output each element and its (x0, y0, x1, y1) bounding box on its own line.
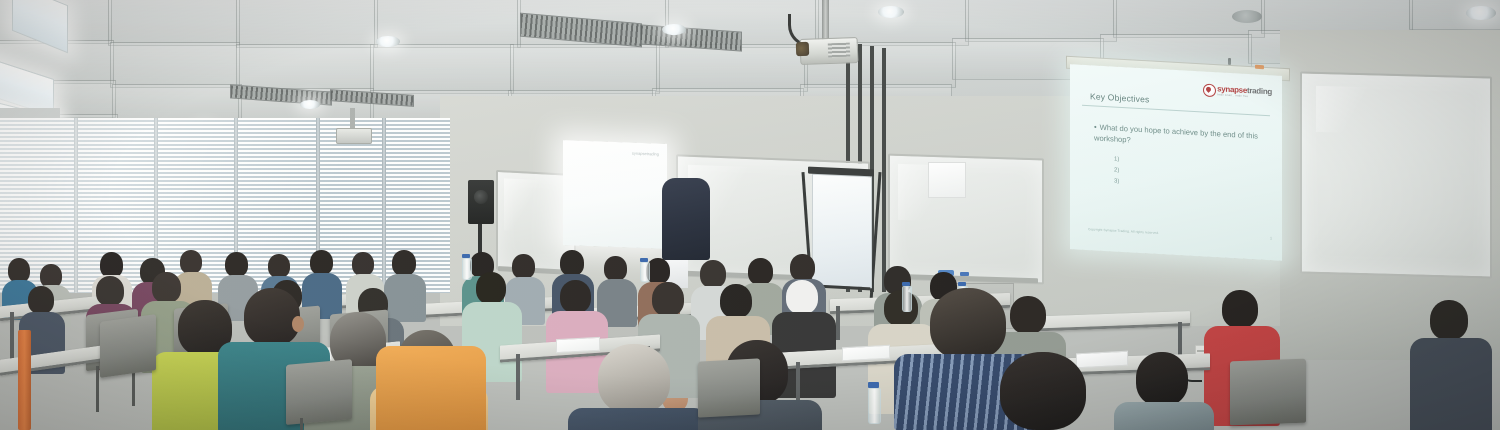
ceiling-downlight (1466, 6, 1496, 20)
secondary-ceiling-projector (336, 128, 372, 144)
attendee-head (268, 254, 290, 278)
attendee-white-cap (786, 280, 818, 314)
attendee-head (1010, 296, 1046, 334)
ceiling-tile (110, 42, 240, 88)
ceiling-downlight (300, 100, 320, 109)
attendee-head (700, 260, 726, 288)
attendee-head (560, 250, 584, 276)
chair-leg (96, 366, 99, 412)
ceiling-tile (108, 0, 240, 46)
attendee-head (476, 272, 506, 304)
ceiling-downlight (1232, 10, 1262, 23)
attendee-head (1000, 352, 1086, 430)
slide-page-number: 1 (1270, 236, 1272, 240)
attendee-gray-hair (598, 344, 670, 414)
presenter-jacket (662, 178, 710, 260)
attendee-head (560, 280, 591, 313)
ceiling-tile (1261, 0, 1413, 34)
whiteboard-marker (960, 272, 969, 276)
orange-floor-post (18, 330, 31, 430)
projector-mount-pole (822, 0, 829, 40)
attendee-head (512, 254, 535, 279)
secondary-screen-logo: synapsetrading (632, 151, 659, 157)
attendee-head (604, 256, 627, 281)
secondary-projection-screen: synapsetrading (563, 140, 667, 249)
ceiling-tile (510, 44, 660, 94)
speaker-cone (474, 190, 488, 204)
handout-paper (928, 162, 966, 198)
water-bottle (640, 262, 650, 282)
attendee-body (376, 346, 486, 430)
projection-screen: synapsetrading trade smart . trade free … (1070, 64, 1282, 261)
attendee-head (1222, 290, 1258, 328)
screen-indicator-light (1255, 65, 1264, 70)
flipchart-paper (812, 174, 872, 289)
attendee-head (392, 250, 416, 276)
seminar-room-photo: synapsetrading trade smart . trade free … (0, 0, 1500, 430)
ceiling-tile (236, 0, 378, 48)
attendee-head (244, 288, 300, 346)
ceiling-downlight (878, 6, 904, 18)
ceiling-tile (236, 44, 374, 92)
whiteboard-right-b (1300, 71, 1492, 278)
synapsetrading-logo: synapsetrading trade smart . trade free (1203, 83, 1272, 100)
attendee-head (225, 252, 248, 277)
bottle-cap (868, 382, 879, 388)
ceiling-tile (112, 84, 242, 122)
attendee-head (1430, 300, 1468, 340)
whiteboard-glare (504, 178, 544, 232)
whiteboard-glare (1316, 86, 1388, 134)
projector-vent-grille (828, 43, 850, 58)
attendee-body (1114, 402, 1214, 430)
projected-slide: synapsetrading trade smart . trade free … (1070, 64, 1282, 261)
handout-paper (1076, 351, 1128, 369)
attendee-head (720, 284, 752, 318)
slide-title-rule (1082, 105, 1270, 117)
attendee-head (310, 250, 333, 275)
pa-speaker (468, 180, 494, 224)
bottle-cap (958, 282, 966, 286)
ceiling-tile (965, 0, 1117, 42)
bullet-dot-icon: • (1094, 122, 1097, 131)
water-bottle (868, 388, 881, 424)
wall-conduit-pipe (882, 48, 886, 292)
logo-wordmark: synapsetrading trade smart . trade free (1217, 85, 1272, 100)
attendee-head (884, 290, 918, 326)
classroom-chair (1230, 359, 1306, 426)
ceiling-downlight (376, 36, 400, 47)
handout-paper (556, 337, 600, 353)
slide-title: Key Objectives (1090, 91, 1150, 104)
attendee-ear (292, 316, 304, 332)
attendee-balding-head (930, 288, 1006, 360)
table-leg (836, 306, 840, 340)
slide-bullet-text: •What do you hope to achieve by the end … (1094, 121, 1264, 153)
handout-paper (842, 345, 890, 362)
attendee-body (384, 274, 426, 322)
slide-footer: Copyright Synapse Trading. All rights re… (1088, 227, 1159, 235)
attendee-head (96, 276, 124, 306)
classroom-chair (286, 359, 352, 425)
classroom-chair (100, 314, 156, 378)
chair-leg (300, 418, 303, 430)
attendee-head (180, 250, 202, 274)
bottle-cap (902, 282, 910, 286)
table-leg (516, 354, 520, 400)
bottle-cap (462, 254, 470, 258)
attendee-head (1136, 352, 1188, 406)
attendee-head (28, 286, 54, 314)
secondary-projector-pole (350, 108, 355, 130)
ceiling-downlight (662, 24, 686, 35)
slide-list-item: 3) (1114, 179, 1119, 185)
attendee-head (652, 282, 684, 316)
water-bottle (462, 258, 472, 280)
ceiling-tile (370, 44, 514, 94)
attendee-head (152, 272, 181, 303)
water-bottle (902, 286, 912, 312)
leaf-mark-icon (1203, 83, 1216, 97)
whiteboard-right-a (888, 154, 1044, 285)
attendee-body (1410, 338, 1492, 430)
bottle-cap (640, 258, 648, 262)
classroom-chair (698, 358, 760, 417)
attendee-head (748, 258, 773, 285)
slide-list-item: 1) (1114, 157, 1119, 163)
ceiling-tile (656, 44, 808, 92)
attendee-head (352, 252, 374, 276)
projector-lens (796, 42, 809, 56)
attendee-head (790, 254, 815, 281)
attendee-body (568, 408, 708, 430)
slide-list-item: 2) (1114, 168, 1119, 174)
